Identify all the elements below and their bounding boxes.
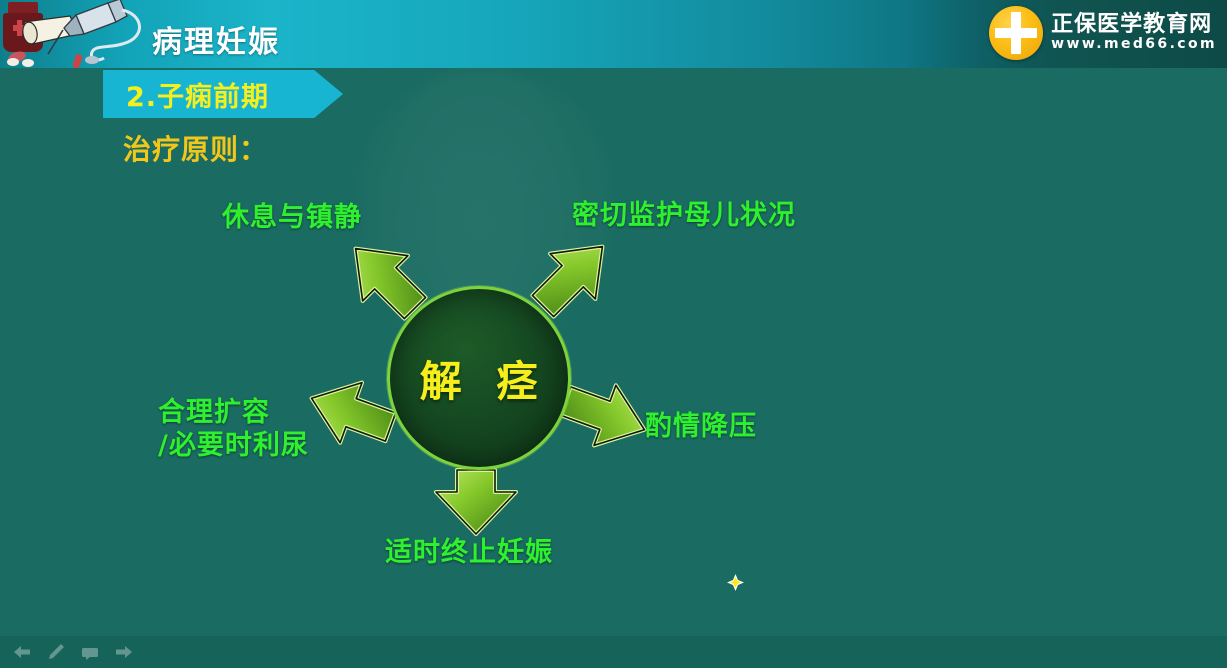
slide-viewer: 病理妊娠 正保医学教育网 www.med66.com 2.子痫前期 治疗原则：: [0, 0, 1227, 668]
brand-url: www.med66.com: [1051, 36, 1217, 54]
slide-subtitle: 治疗原则：: [123, 128, 268, 168]
spoke-label-volume: 合理扩容 /必要时利尿: [158, 397, 309, 463]
center-hub: 解 痉: [387, 286, 571, 470]
arrow-down-icon: [428, 466, 524, 538]
brand-text: 正保医学教育网 www.med66.com: [1051, 13, 1217, 54]
brand-name: 正保医学教育网: [1051, 13, 1217, 36]
spoke-label-rest: 休息与镇静: [222, 202, 362, 235]
hub-label: 解 痉: [410, 348, 549, 409]
spoke-label-monitor: 密切监护母儿状况: [572, 200, 796, 233]
section-chevron: 2.子痫前期: [103, 70, 343, 118]
yellow-pointer-marker: [727, 574, 744, 591]
page-title: 病理妊娠: [152, 17, 280, 61]
pen-icon[interactable]: [46, 642, 66, 662]
header-bar: 病理妊娠 正保医学教育网 www.med66.com: [0, 0, 1227, 68]
player-toolbar: [0, 636, 1227, 668]
arrow-left-icon: [304, 364, 400, 462]
forward-icon[interactable]: [114, 642, 134, 662]
note-icon[interactable]: [80, 642, 100, 662]
section-label: 2.子痫前期: [103, 75, 269, 114]
med66-cross-logo: [989, 6, 1043, 60]
back-icon[interactable]: [12, 642, 32, 662]
brand-logo[interactable]: 正保医学教育网 www.med66.com: [989, 2, 1217, 64]
medical-supplies-illustration: [0, 0, 150, 68]
spoke-label-terminate: 适时终止妊娠: [385, 537, 553, 570]
spoke-label-bp: 酌情降压: [645, 411, 757, 444]
